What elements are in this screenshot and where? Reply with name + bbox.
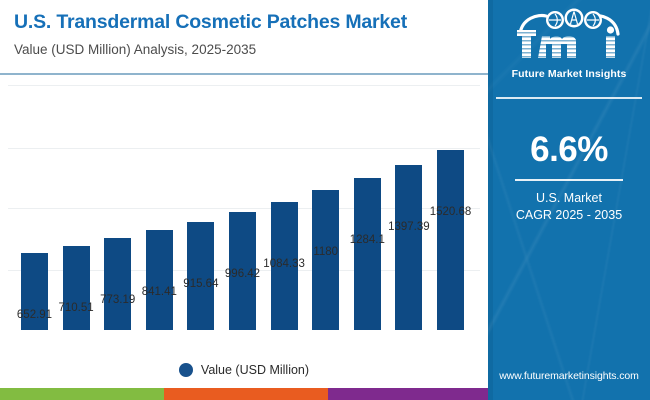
bar: [312, 190, 339, 330]
bar: [146, 230, 173, 330]
bar: [437, 150, 464, 330]
bar-value-label: 1180: [299, 246, 352, 258]
cagr-divider: [515, 179, 623, 181]
bar-group: 652.91: [14, 76, 55, 330]
bar-value-label: 1520.68: [424, 206, 477, 218]
brand-logo: Future Market Insights: [488, 8, 650, 80]
bar-group: 1284.1: [347, 76, 388, 330]
panel-divider: [496, 97, 642, 99]
bar-value-label: 1284.1: [341, 234, 394, 246]
chart-header: U.S. Transdermal Cosmetic Patches Market…: [0, 0, 488, 73]
brand-tagline: Future Market Insights: [488, 68, 650, 80]
chart-legend: Value (USD Million): [0, 363, 488, 377]
circle-marker-icon: [179, 363, 193, 377]
bar-group: 841.41: [139, 76, 180, 330]
bar-value-label: 1084.33: [258, 258, 311, 270]
bar-group: 1084.33: [264, 76, 305, 330]
bar-group: 1397.39: [388, 76, 429, 330]
bar: [395, 165, 422, 330]
legend-label: Value (USD Million): [201, 363, 309, 377]
bottom-color-strip: [0, 388, 488, 400]
bar-group: 1180: [305, 76, 346, 330]
bar-group: 710.51: [56, 76, 97, 330]
cagr-market-label: U.S. Market: [488, 190, 650, 207]
fmi-logo-icon: [506, 8, 632, 66]
bar-group: 915.64: [180, 76, 221, 330]
strip-purple: [328, 388, 488, 400]
bar: [354, 178, 381, 330]
page-title: U.S. Transdermal Cosmetic Patches Market: [14, 10, 476, 34]
chart-infographic: U.S. Transdermal Cosmetic Patches Market…: [0, 0, 650, 400]
cagr-block: 6.6% U.S. Market CAGR 2025 - 2035: [488, 130, 650, 224]
strip-orange: [164, 388, 328, 400]
brand-panel: Future Market Insights 6.6% U.S. Market …: [488, 0, 650, 400]
strip-green: [0, 388, 164, 400]
bar-group: 996.42: [222, 76, 263, 330]
cagr-value: 6.6%: [488, 130, 650, 170]
bar: [187, 222, 214, 330]
bar: [63, 246, 90, 330]
chart-panel: U.S. Transdermal Cosmetic Patches Market…: [0, 0, 488, 388]
page-subtitle: Value (USD Million) Analysis, 2025-2035: [14, 41, 476, 58]
cagr-period-label: CAGR 2025 - 2035: [488, 207, 650, 224]
header-divider: [0, 73, 488, 75]
bar: [104, 238, 131, 330]
bar-group: 1520.68: [430, 76, 471, 330]
bar-value-label: 1397.39: [382, 221, 435, 233]
website-url: www.futuremarketinsights.com: [488, 370, 650, 382]
plot-area: 652.91710.51773.19841.41915.64996.421084…: [0, 76, 488, 330]
